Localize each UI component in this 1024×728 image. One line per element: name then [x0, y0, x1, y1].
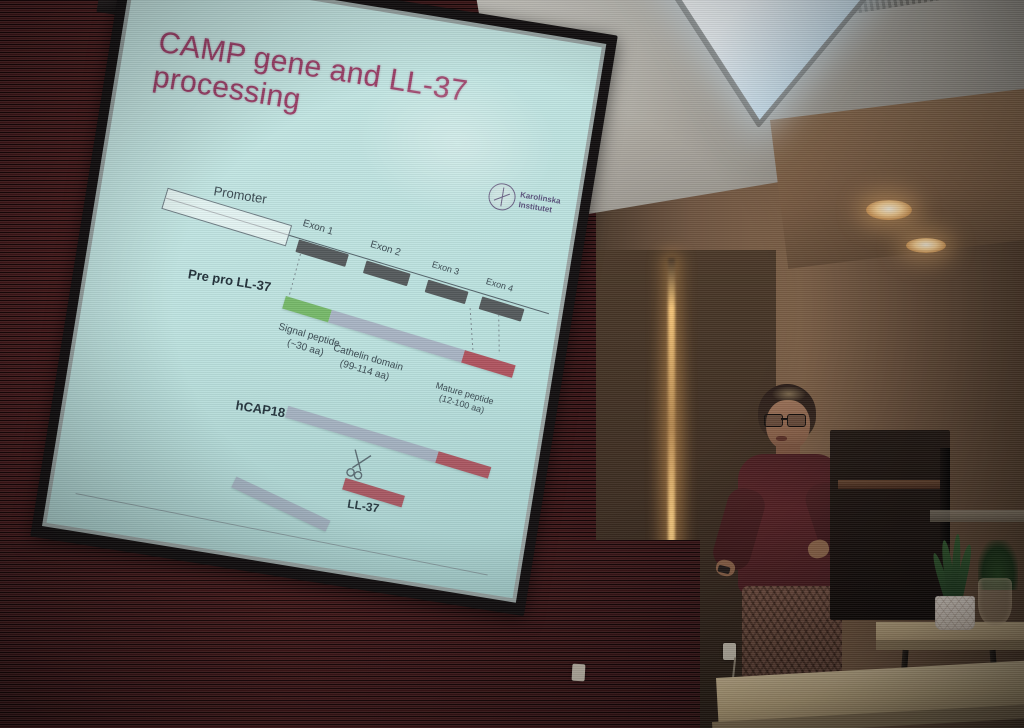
glasses-bridge — [781, 418, 787, 420]
signal-peptide-segment — [282, 296, 332, 322]
exon-label-4: Exon 4 — [485, 276, 515, 294]
plant-pot-texture — [935, 596, 975, 630]
wall-socket — [572, 664, 586, 682]
glass-vase — [978, 578, 1012, 626]
glasses-lens-left — [764, 414, 783, 427]
presenter-mouth — [776, 436, 787, 441]
dark-cabinet — [830, 430, 950, 620]
presenter-hair-highlight — [772, 386, 806, 402]
recessed-downlight — [866, 200, 912, 220]
cabinet-ledge — [838, 480, 948, 489]
projector-hotspot — [348, 55, 567, 230]
guide-line — [289, 254, 301, 295]
exon-block-1 — [295, 239, 349, 266]
recessed-downlight — [906, 238, 946, 253]
pre-pro-ll37-label: Pre pro LL-37 — [187, 266, 272, 294]
exon-label-1: Exon 1 — [301, 218, 334, 238]
guide-line — [498, 315, 500, 355]
guide-line — [470, 308, 474, 350]
lecture-room-photo: CAMP gene and LL-37 processing Karolinsk… — [0, 0, 1024, 728]
presentation-slide: CAMP gene and LL-37 processing Karolinsk… — [47, 0, 602, 598]
side-table-edge — [876, 640, 1024, 650]
back-shelf — [930, 510, 1024, 522]
black-post — [940, 448, 950, 544]
exon-label-2: Exon 2 — [369, 239, 402, 259]
exon-label-3: Exon 3 — [431, 259, 461, 277]
glasses-icon — [764, 414, 806, 425]
projection-screen[interactable]: CAMP gene and LL-37 processing Karolinsk… — [30, 0, 618, 616]
glasses-lens-right — [787, 414, 806, 427]
